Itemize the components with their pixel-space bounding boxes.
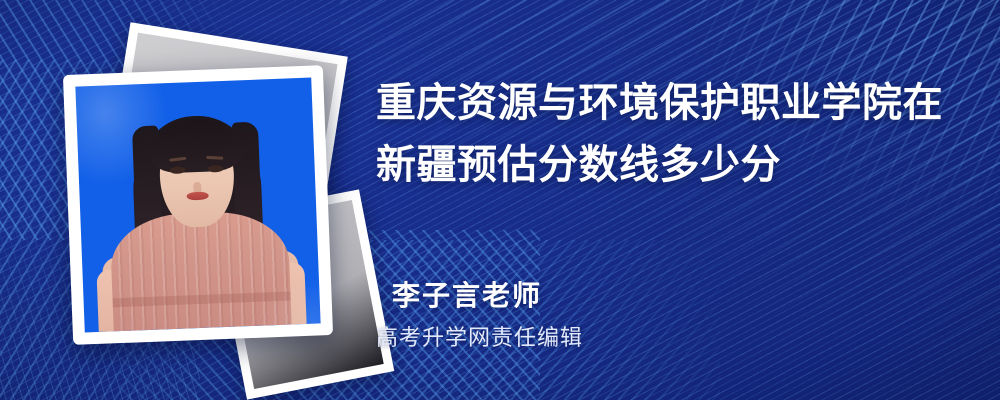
portrait-shoulder-right (268, 250, 301, 325)
portrait-eye-right (207, 165, 223, 173)
portrait-eye-left (170, 166, 186, 174)
author-photo-stack (48, 32, 358, 362)
article-header-banner: 重庆资源与环境保护职业学院在新疆预估分数线多少分 李子言老师 高考升学网责任编辑 (0, 0, 1000, 400)
page-title: 重庆资源与环境保护职业学院在新疆预估分数线多少分 (376, 72, 960, 196)
portrait-illustration (75, 78, 320, 333)
author-role: 高考升学网责任编辑 (376, 320, 583, 352)
author-photo (75, 78, 320, 333)
portrait-arm-right (278, 262, 306, 325)
author-photo-frame (63, 65, 333, 345)
portrait-dress (109, 210, 291, 332)
author-name: 李子言老师 (392, 274, 542, 314)
banner-text-content: 重庆资源与环境保护职业学院在新疆预估分数线多少分 李子言老师 高考升学网责任编辑 (376, 0, 976, 400)
portrait-mouth (186, 191, 208, 200)
